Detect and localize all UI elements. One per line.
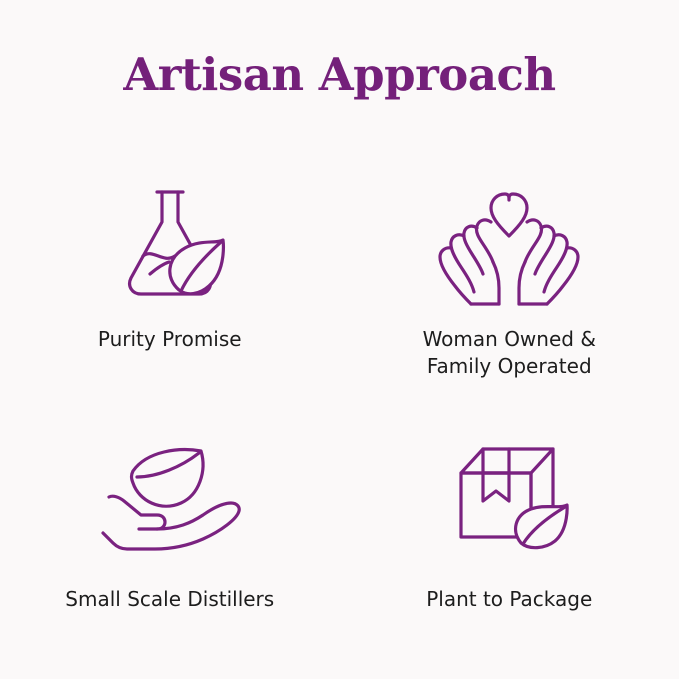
feature-caption: Plant to Package — [426, 586, 592, 613]
box-with-leaf-icon — [439, 422, 579, 572]
hands-holding-heart-icon — [429, 168, 589, 318]
feature-caption: Small Scale Distillers — [65, 586, 274, 613]
feature-item-plant-to-package: Plant to Package — [340, 400, 679, 650]
artisan-approach-infographic: Artisan Approach Purity Promise — [0, 0, 679, 679]
feature-item-purity-promise: Purity Promise — [0, 150, 340, 400]
page-title: Artisan Approach — [0, 48, 679, 101]
hand-holding-leaf-icon — [95, 422, 245, 572]
flask-with-leaf-icon — [105, 168, 235, 318]
feature-caption: Woman Owned & Family Operated — [423, 326, 596, 380]
feature-grid: Purity Promise — [0, 150, 679, 650]
feature-item-woman-owned: Woman Owned & Family Operated — [340, 150, 679, 400]
feature-caption: Purity Promise — [98, 326, 242, 353]
feature-item-small-scale-distillers: Small Scale Distillers — [0, 400, 340, 650]
